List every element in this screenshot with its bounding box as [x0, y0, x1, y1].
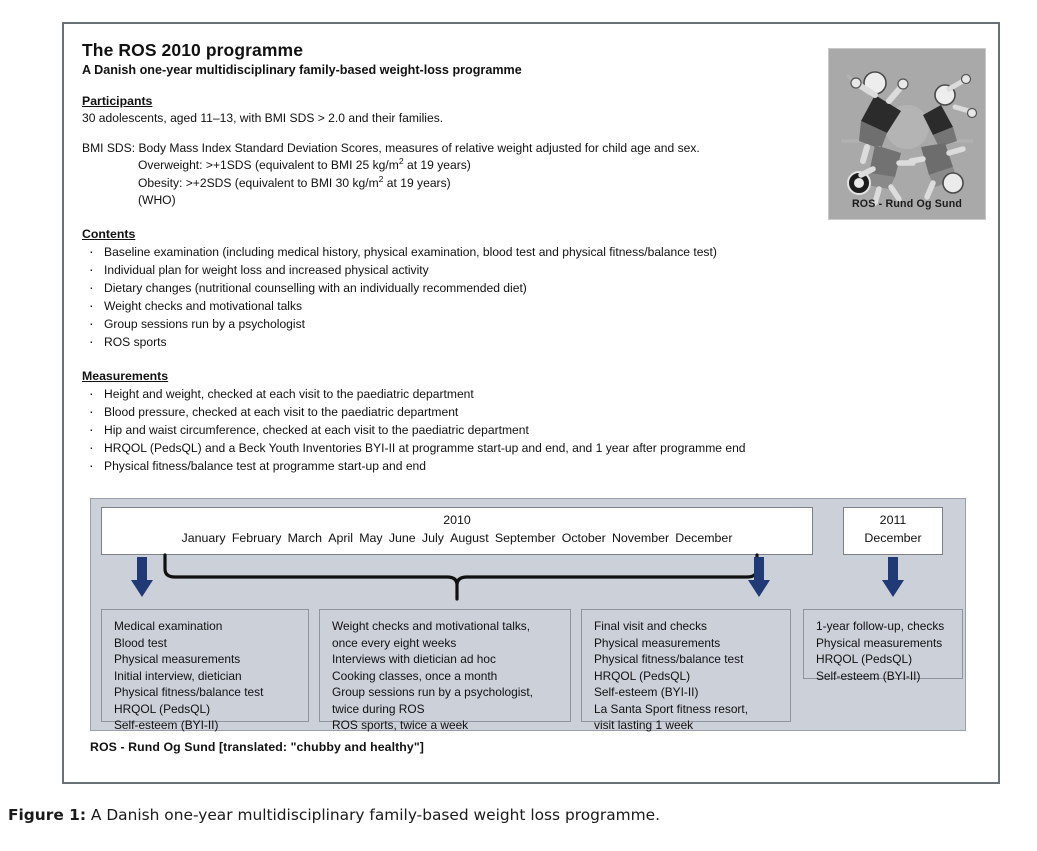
bmi-sds-definition: BMI SDS: Body Mass Index Standard Deviat…: [82, 140, 986, 157]
box-line: Self-esteem (BYI-II): [114, 717, 298, 734]
caption-text: A Danish one-year multidisciplinary fami…: [86, 806, 660, 824]
timeline-box-final-visit: Final visit and checks Physical measurem…: [581, 609, 791, 722]
figure-title: The ROS 2010 programme: [82, 40, 986, 61]
obesity-tail: at 19 years): [383, 176, 450, 190]
timeline-brace: [161, 553, 761, 603]
list-item: Baseline examination (including medical …: [82, 243, 986, 261]
box-line: Blood test: [114, 635, 298, 652]
list-item: Height and weight, checked at each visit…: [82, 385, 986, 403]
box-line: Self-esteem (BYI-II): [816, 668, 952, 685]
timeline-box-follow-up: 1-year follow-up, checks Physical measur…: [803, 609, 963, 679]
figure-frame: ROS - Rund Og Sund The ROS 2010 programm…: [62, 22, 1000, 784]
contents-list: Baseline examination (including medical …: [82, 243, 986, 351]
figure-caption: Figure 1: A Danish one-year multidiscipl…: [8, 806, 660, 824]
box-line: 1-year follow-up, checks: [816, 618, 952, 635]
obesity-text: Obesity: >+2SDS (equivalent to BMI 30 kg…: [138, 176, 379, 190]
box-line: Physical measurements: [816, 635, 952, 652]
figure-subtitle: A Danish one-year multidisciplinary fami…: [82, 63, 986, 78]
month-label: December: [675, 531, 732, 545]
month-label: February: [232, 531, 282, 545]
box-line: La Santa Sport fitness resort,: [594, 701, 780, 718]
box-line: Physical measurements: [594, 635, 780, 652]
list-item: Group sessions run by a psychologist: [82, 315, 986, 333]
participants-line: 30 adolescents, aged 11–13, with BMI SDS…: [82, 110, 986, 127]
arrow-down-icon: [882, 557, 904, 597]
box-line: Medical examination: [114, 618, 298, 635]
spacer: [82, 209, 986, 227]
box-line: Physical fitness/balance test: [114, 684, 298, 701]
box-line: HRQOL (PedsQL): [114, 701, 298, 718]
overweight-tail: at 19 years): [404, 158, 471, 172]
arrow-down-icon: [748, 557, 770, 597]
measurements-heading: Measurements: [82, 369, 986, 383]
month-label: January: [182, 531, 226, 545]
timeline-panel: 2010 JanuaryFebruaryMarchAprilMayJuneJul…: [90, 498, 966, 731]
box-line: Self-esteem (BYI-II): [594, 684, 780, 701]
box-line: twice during ROS: [332, 701, 560, 718]
month-label: November: [612, 531, 669, 545]
timeline-2011-box: 2011 December: [843, 507, 943, 555]
participants-heading: Participants: [82, 94, 986, 108]
caption-label: Figure 1:: [8, 806, 86, 824]
list-item: Blood pressure, checked at each visit to…: [82, 403, 986, 421]
contents-heading: Contents: [82, 227, 986, 241]
measurements-list: Height and weight, checked at each visit…: [82, 385, 986, 475]
timeline-months-2010: JanuaryFebruaryMarchAprilMayJuneJulyAugu…: [102, 530, 812, 548]
box-line: Group sessions run by a psychologist,: [332, 684, 560, 701]
box-line: Initial interview, dietician: [114, 668, 298, 685]
month-label: June: [389, 531, 416, 545]
box-line: Weight checks and motivational talks,: [332, 618, 560, 635]
month-label: October: [562, 531, 606, 545]
bmi-sds-obesity: Obesity: >+2SDS (equivalent to BMI 30 kg…: [82, 175, 986, 192]
arrow-down-icon: [131, 557, 153, 597]
month-label: March: [288, 531, 322, 545]
month-label: September: [495, 531, 556, 545]
list-item: ROS sports: [82, 333, 986, 351]
bmi-sds-overweight: Overweight: >+1SDS (equivalent to BMI 25…: [82, 157, 986, 174]
spacer: [82, 127, 986, 140]
list-item: Dietary changes (nutritional counselling…: [82, 279, 986, 297]
list-item: Individual plan for weight loss and incr…: [82, 261, 986, 279]
list-item: Physical fitness/balance test at program…: [82, 457, 986, 475]
box-line: once every eight weeks: [332, 635, 560, 652]
month-label: May: [359, 531, 382, 545]
box-line: Physical measurements: [114, 651, 298, 668]
box-line: HRQOL (PedsQL): [594, 668, 780, 685]
figure-footer: ROS - Rund Og Sund [translated: "chubby …: [90, 740, 424, 754]
overweight-text: Overweight: >+1SDS (equivalent to BMI 25…: [138, 158, 399, 172]
spacer: [82, 351, 986, 369]
month-label: April: [328, 531, 353, 545]
timeline-year-2011: 2011: [844, 512, 942, 530]
timeline-box-baseline: Medical examination Blood test Physical …: [101, 609, 309, 722]
box-line: Final visit and checks: [594, 618, 780, 635]
list-item: Hip and waist circumference, checked at …: [82, 421, 986, 439]
list-item: HRQOL (PedsQL) and a Beck Youth Inventor…: [82, 439, 986, 457]
box-line: Cooking classes, once a month: [332, 668, 560, 685]
box-line: visit lasting 1 week: [594, 717, 780, 734]
box-line: Physical fitness/balance test: [594, 651, 780, 668]
timeline-month-2011: December: [844, 530, 942, 548]
month-label: July: [422, 531, 444, 545]
bmi-sds-source: (WHO): [82, 192, 986, 209]
box-line: Interviews with dietician ad hoc: [332, 651, 560, 668]
timeline-year-2010: 2010: [102, 512, 812, 530]
box-line: HRQOL (PedsQL): [816, 651, 952, 668]
timeline-2010-box: 2010 JanuaryFebruaryMarchAprilMayJuneJul…: [101, 507, 813, 555]
month-label: August: [450, 531, 489, 545]
list-item: Weight checks and motivational talks: [82, 297, 986, 315]
timeline-box-during-programme: Weight checks and motivational talks, on…: [319, 609, 571, 722]
box-line: ROS sports, twice a week: [332, 717, 560, 734]
